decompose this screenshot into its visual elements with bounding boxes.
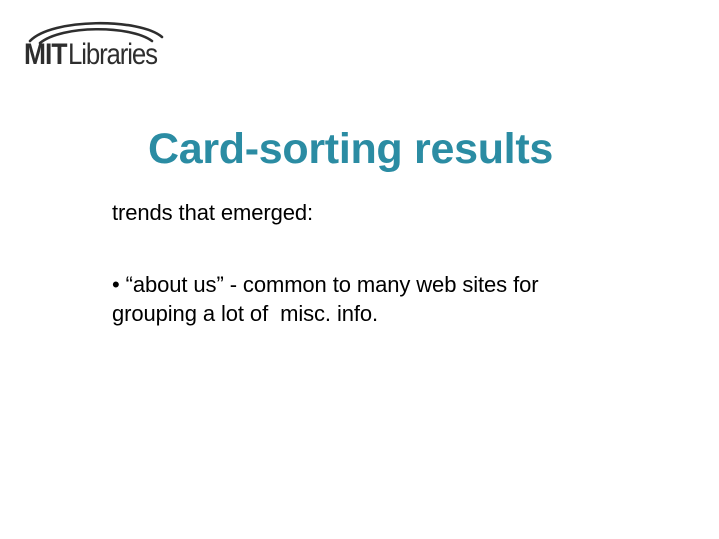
bullet-text: “about us” - common to many web sites fo… bbox=[112, 272, 544, 326]
logo-libraries-text: Libraries bbox=[68, 40, 157, 70]
list-item: • “about us” - common to many web sites … bbox=[112, 270, 612, 328]
bullet-marker: • bbox=[112, 272, 120, 297]
slide-canvas: MITLibraries Card-sorting results trends… bbox=[0, 0, 719, 539]
mit-libraries-logo: MITLibraries bbox=[24, 14, 166, 74]
body-spacer bbox=[112, 227, 612, 270]
intro-line: trends that emerged: bbox=[112, 198, 612, 227]
bullet-list: • “about us” - common to many web sites … bbox=[112, 270, 612, 328]
slide-body: trends that emerged: • “about us” - comm… bbox=[112, 198, 612, 328]
logo-mit-text: MIT bbox=[24, 40, 67, 70]
page-title: Card-sorting results bbox=[148, 125, 553, 173]
logo-wordmark: MITLibraries bbox=[24, 40, 172, 70]
